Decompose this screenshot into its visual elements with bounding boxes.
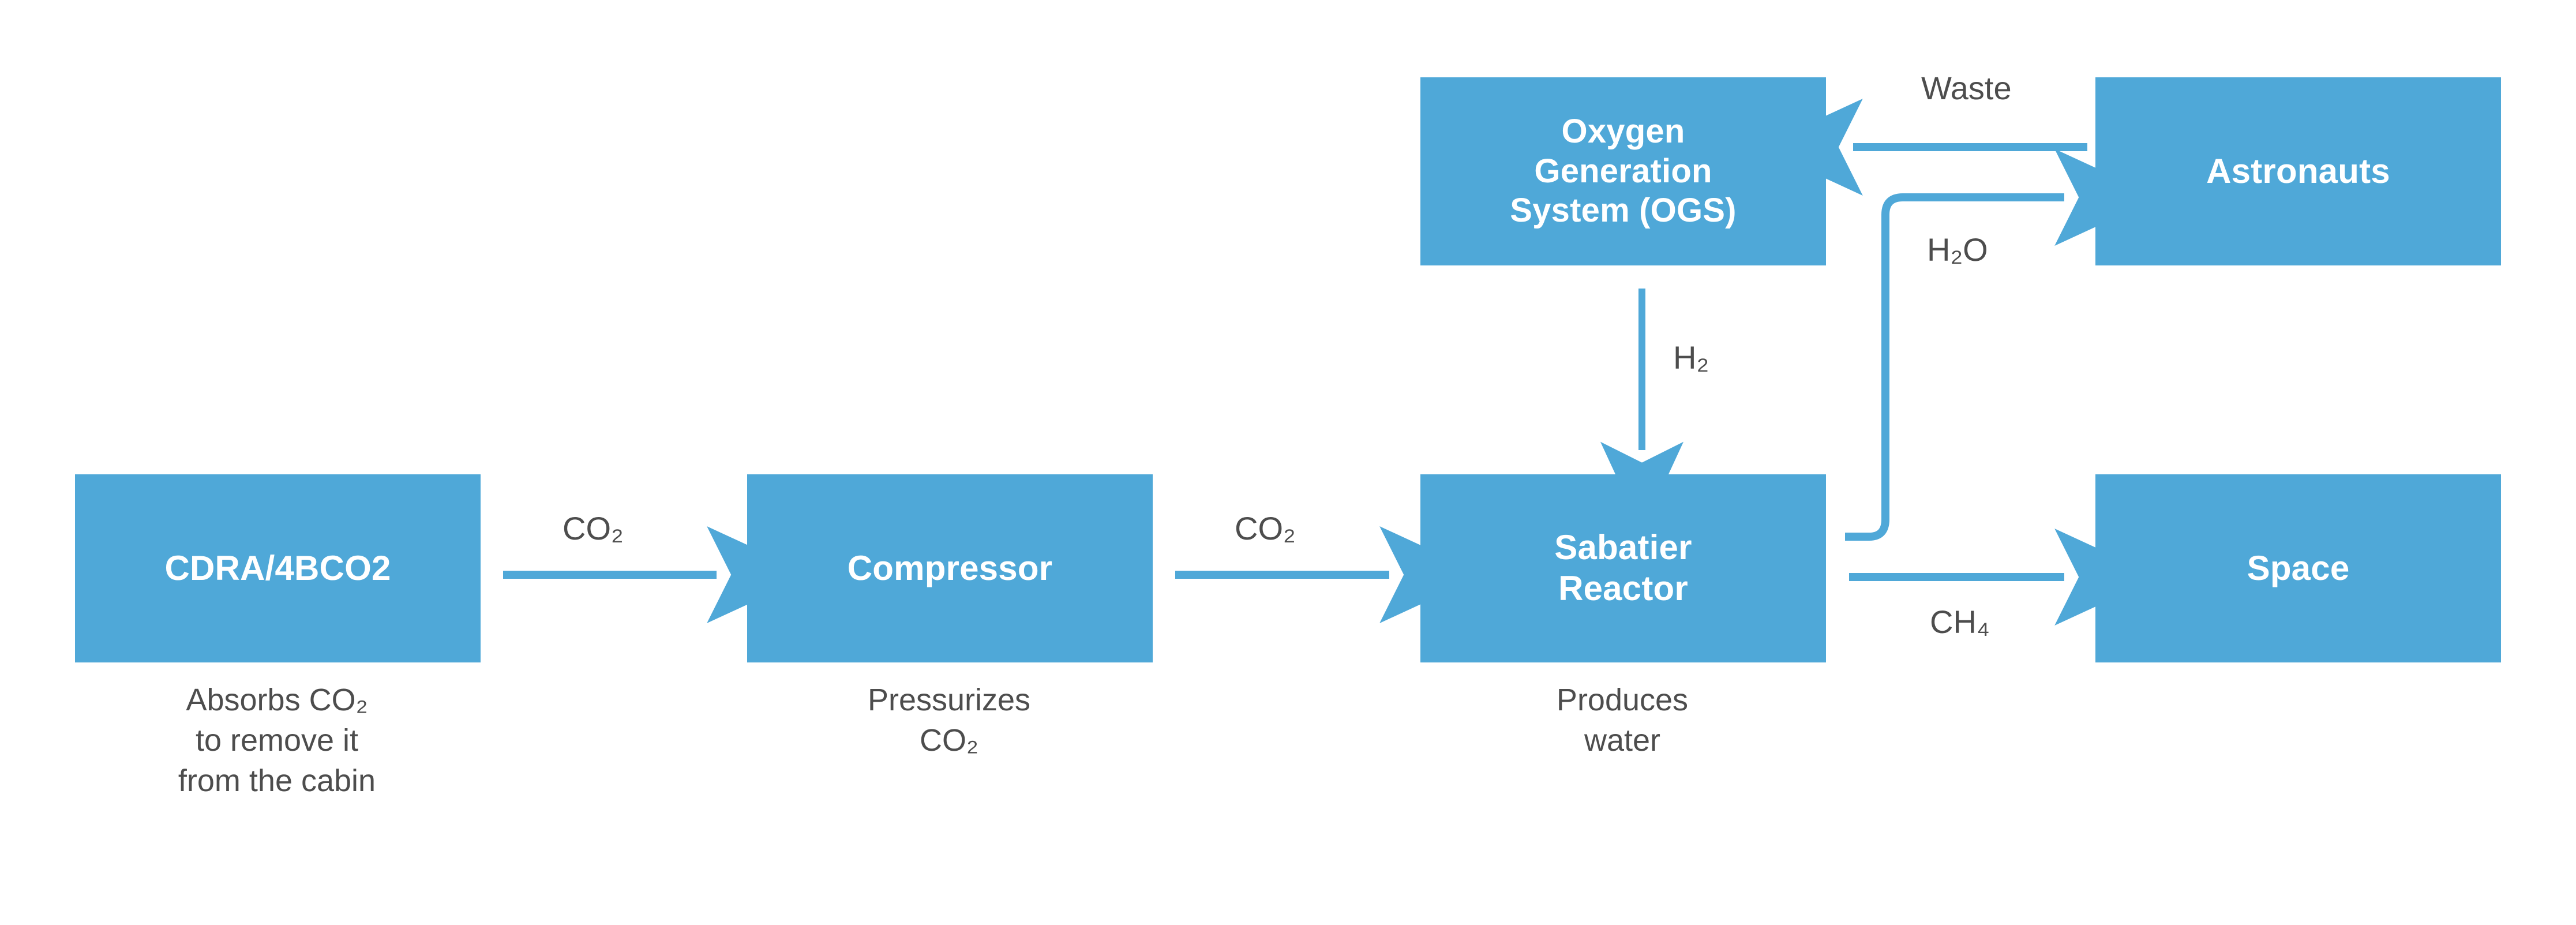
node-compressor-label: Compressor	[747, 548, 1153, 589]
node-space-label: Space	[2095, 548, 2501, 589]
caption-cdra: Absorbs CO₂ to remove it from the cabin	[46, 680, 508, 802]
node-ogs-line2: Generation	[1534, 152, 1712, 190]
edge-label-waste: Waste	[1921, 72, 2012, 104]
node-ogs-line3: System (OGS)	[1510, 192, 1736, 229]
node-cdra-label: CDRA/4BCO2	[75, 548, 481, 589]
node-sabatier-line1: Sabatier	[1554, 528, 1692, 567]
edge-label-co2-compressor-sabatier: CO₂	[1235, 512, 1296, 545]
node-ogs[interactable]: Oxygen Generation System (OGS)	[1420, 77, 1826, 265]
edge-label-ch4: CH₄	[1930, 606, 1990, 638]
node-astronauts[interactable]: Astronauts	[2095, 77, 2501, 265]
diagram-canvas: CDRA/4BCO2 Absorbs CO₂ to remove it from…	[0, 0, 2576, 925]
node-ogs-line1: Oxygen	[1562, 113, 1685, 150]
node-space[interactable]: Space	[2095, 474, 2501, 662]
node-ogs-label: Oxygen Generation System (OGS)	[1420, 112, 1826, 230]
node-sabatier-reactor[interactable]: Sabatier Reactor	[1420, 474, 1826, 662]
node-cdra[interactable]: CDRA/4BCO2	[75, 474, 481, 662]
caption-sabatier-reactor: Produces water	[1392, 680, 1853, 761]
node-sabatier-line2: Reactor	[1558, 569, 1688, 608]
edge-label-co2-cdra-compressor: CO₂	[563, 512, 624, 545]
edge-label-h2o: H₂O	[1927, 234, 1988, 266]
edge-label-h2: H₂	[1673, 342, 1709, 374]
caption-compressor: Pressurizes CO₂	[718, 680, 1180, 761]
node-astronauts-label: Astronauts	[2095, 151, 2501, 192]
node-sabatier-reactor-label: Sabatier Reactor	[1420, 527, 1826, 609]
node-compressor[interactable]: Compressor	[747, 474, 1153, 662]
